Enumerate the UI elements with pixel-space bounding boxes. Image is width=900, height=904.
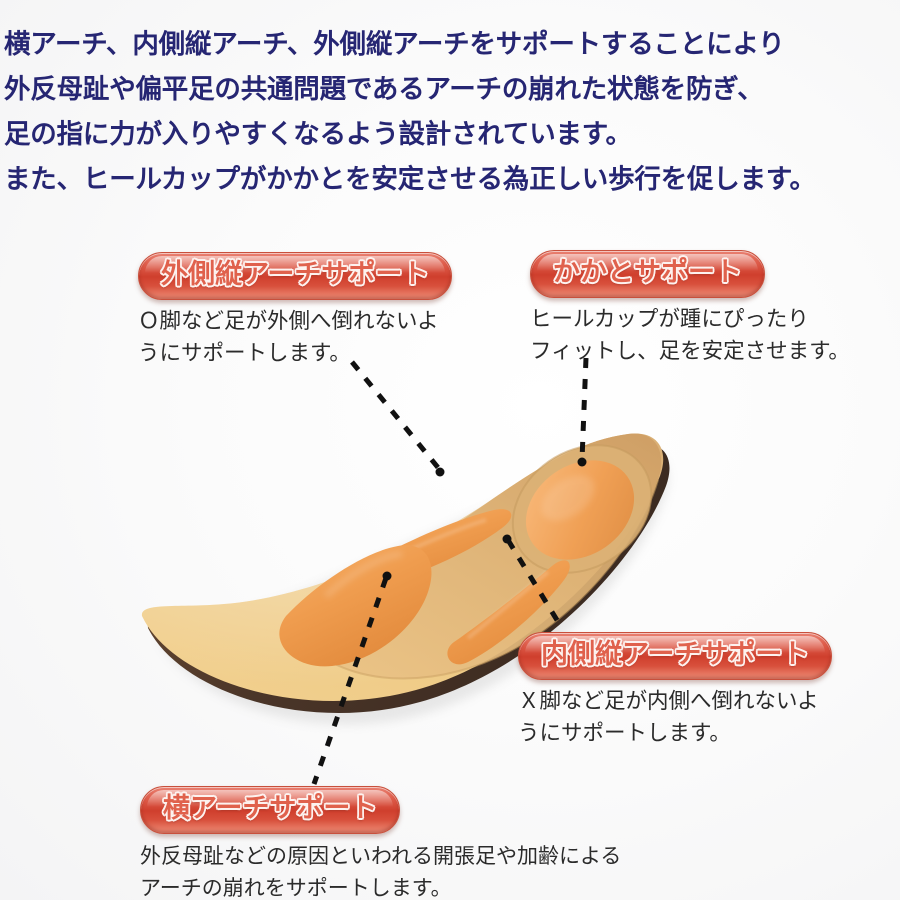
callout-heel-description: ヒールカップが踵にぴったり フィットし、足を安定させます。 xyxy=(530,304,850,368)
callout-transverse-arch-description: 外反母趾などの原因といわれる開張足や加齢による アーチの崩れをサポートします。 xyxy=(140,840,621,904)
infographic-canvas: 横アーチ、内側縦アーチ、外側縦アーチをサポートすることにより 外反母趾や偏平足の… xyxy=(0,0,900,900)
callout-transverse-arch: 横アーチサポート 外反母趾などの原因といわれる開張足や加齢による アーチの崩れを… xyxy=(140,786,621,904)
callout-medial-arch-description: Ｘ脚など足が内側へ倒れないよ うにサポートします。 xyxy=(518,686,832,750)
callout-lateral-arch-desc-line-2: うにサポートします。 xyxy=(138,338,452,370)
leader-dot-transverse-arch xyxy=(383,572,392,581)
callout-medial-arch-pill[interactable]: 内側縦アーチサポート xyxy=(518,632,832,680)
callout-medial-arch-desc-line-2: うにサポートします。 xyxy=(518,718,832,750)
leader-line-lateral-arch xyxy=(352,362,440,470)
leader-dot-heel xyxy=(578,458,587,467)
lateral-arch-ridge xyxy=(378,509,511,580)
callout-transverse-arch-pill[interactable]: 横アーチサポート xyxy=(140,786,400,834)
callout-medial-arch-title: 内側縦アーチサポート xyxy=(541,639,809,670)
callout-heel-pill[interactable]: かかとサポート xyxy=(530,250,765,298)
callout-heel-title: かかとサポート xyxy=(553,257,742,288)
callout-transverse-arch-desc-line-2: アーチの崩れをサポートします。 xyxy=(140,872,621,904)
callout-lateral-arch: 外側縦アーチサポート Ｏ脚など足が外側へ倒れないよ うにサポートします。 xyxy=(138,252,452,370)
callout-transverse-arch-desc-line-1: 外反母趾などの原因といわれる開張足や加齢による xyxy=(140,840,621,872)
headline-line-3: 足の指に力が入りやすくなるよう設計されています。 xyxy=(4,112,896,157)
leader-line-transverse-arch xyxy=(314,578,386,784)
leader-dot-medial-arch xyxy=(503,535,512,544)
metatarsal-pad xyxy=(279,545,431,666)
callout-heel-desc-line-2: フィットし、足を安定させます。 xyxy=(530,336,850,368)
headline-line-4: また、ヒールカップがかかとを安定させる為正しい歩行を促します。 xyxy=(4,157,896,202)
leader-line-medial-arch xyxy=(508,540,560,625)
callout-lateral-arch-description: Ｏ脚など足が外側へ倒れないよ うにサポートします。 xyxy=(138,306,452,370)
leader-dot-lateral-arch xyxy=(436,468,445,477)
callout-heel-desc-line-1: ヒールカップが踵にぴったり xyxy=(530,304,850,336)
callout-heel: かかとサポート ヒールカップが踵にぴったり フィットし、足を安定させます。 xyxy=(530,250,850,368)
callout-medial-arch-desc-line-1: Ｘ脚など足が内側へ倒れないよ xyxy=(518,686,832,718)
callout-transverse-arch-title: 横アーチサポート xyxy=(163,793,377,824)
callout-lateral-arch-pill[interactable]: 外側縦アーチサポート xyxy=(138,252,452,300)
headline-line-1: 横アーチ、内側縦アーチ、外側縦アーチをサポートすることにより xyxy=(4,22,896,67)
heel-cup-pad xyxy=(507,440,654,580)
callout-lateral-arch-title: 外側縦アーチサポート xyxy=(161,259,429,290)
headline-line-2: 外反母趾や偏平足の共通問題であるアーチの崩れた状態を防ぎ、 xyxy=(4,67,896,112)
callout-lateral-arch-desc-line-1: Ｏ脚など足が外側へ倒れないよ xyxy=(138,306,452,338)
leader-line-heel xyxy=(582,358,586,460)
heel-cup-rim xyxy=(488,419,676,599)
callout-medial-arch: 内側縦アーチサポート Ｘ脚など足が内側へ倒れないよ うにサポートします。 xyxy=(518,632,832,750)
page-headline: 横アーチ、内側縦アーチ、外側縦アーチをサポートすることにより 外反母趾や偏平足の… xyxy=(4,22,896,202)
